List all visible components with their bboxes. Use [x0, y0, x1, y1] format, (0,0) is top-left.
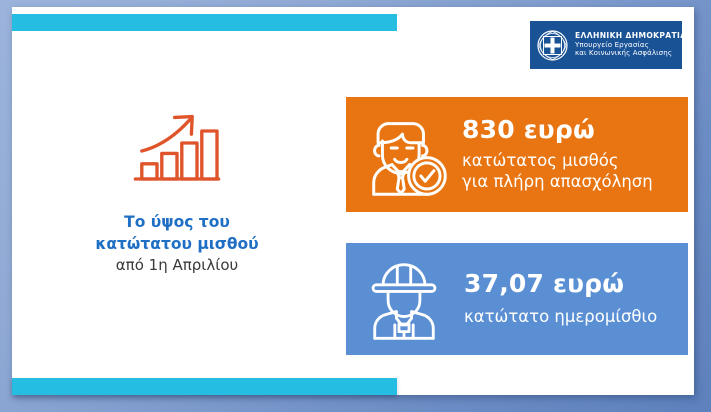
greek-coat-of-arms-icon [537, 30, 568, 61]
stat-text-daily: 37,07 ευρώ κατώτατο ημερομίσθιο [450, 270, 674, 328]
bottom-accent-bar [12, 378, 397, 395]
ministry-logo-text: ΕΛΛΗΝΙΚΗ ΔΗΜΟΚΡΑΤΙΑ Υπουργείο Εργασίας κ… [575, 32, 686, 58]
stat-amount-salary: 830 ευρώ [462, 116, 674, 145]
growth-bar-chart-arrow-icon [129, 107, 225, 187]
office-worker-check-icon [358, 107, 454, 203]
stat-desc-salary-line2: για πλήρη απασχόληση [462, 171, 674, 193]
caption-line-1: Το ύψος του [42, 211, 312, 233]
caption-line-2: κατώτατου μισθού [42, 233, 312, 255]
stat-desc-daily-line1: κατώτατο ημερομίσθιο [464, 306, 674, 328]
stat-desc-salary-line1: κατώτατος μισθός [462, 150, 674, 172]
logo-line-ministry-cont: και Κοινωνικής Ασφάλισης [575, 49, 686, 57]
white-page-card: ΕΛΛΗΝΙΚΗ ΔΗΜΟΚΡΑΤΙΑ Υπουργείο Εργασίας κ… [12, 7, 694, 395]
left-column: Το ύψος του κατώτατου μισθού από 1η Απρι… [42, 107, 312, 276]
stat-card-minimum-salary: 830 ευρώ κατώτατος μισθός για πλήρη απασ… [346, 97, 688, 212]
left-caption: Το ύψος του κατώτατου μισθού από 1η Απρι… [42, 211, 312, 276]
stat-amount-daily: 37,07 ευρώ [464, 270, 674, 299]
stat-text-salary: 830 ευρώ κατώτατος μισθός για πλήρη απασ… [454, 116, 674, 193]
slide-frame: ΕΛΛΗΝΙΚΗ ΔΗΜΟΚΡΑΤΙΑ Υπουργείο Εργασίας κ… [0, 0, 711, 412]
top-accent-bar [12, 14, 397, 31]
stat-card-daily-wage: 37,07 ευρώ κατώτατο ημερομίσθιο [346, 243, 688, 355]
construction-worker-helmet-icon [358, 251, 450, 347]
ministry-logo: ΕΛΛΗΝΙΚΗ ΔΗΜΟΚΡΑΤΙΑ Υπουργείο Εργασίας κ… [530, 21, 682, 69]
caption-line-3: από 1η Απριλίου [42, 255, 312, 276]
